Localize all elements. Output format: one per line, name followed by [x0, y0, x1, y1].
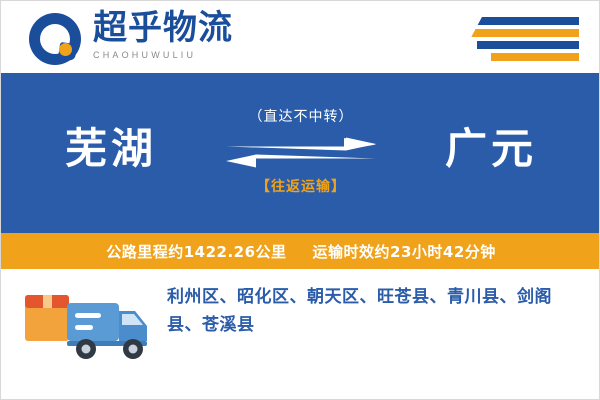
logistics-route-card: 超乎物流 CHAOHUWULIU 芜湖 （直达不中转） [0, 0, 600, 400]
route-info-bar: 公路里程约1422.26公里 运输时效约23小时42分钟 [1, 233, 600, 269]
duration-text: 运输时效约23小时42分钟 [313, 241, 496, 262]
delivery-truck-icon [23, 281, 153, 373]
brand-text-block: 超乎物流 CHAOHUWULIU [93, 9, 323, 60]
logo-dot [59, 43, 72, 56]
route-panel: 芜湖 （直达不中转） 【往返运输】 广元 [1, 73, 600, 233]
circle-q-logo-icon [29, 13, 81, 65]
roundtrip-label: 【往返运输】 [201, 177, 401, 197]
stripe-3 [477, 41, 579, 49]
route-middle: （直达不中转） 【往返运输】 [201, 107, 401, 207]
stripe-2 [463, 29, 579, 37]
double-arrow-icon [226, 137, 376, 171]
distance-text: 公路里程约1422.26公里 [106, 241, 286, 262]
stripe-4 [491, 53, 579, 61]
brand-name-cn: 超乎物流 [93, 9, 323, 47]
origin-city: 芜湖 [11, 121, 211, 177]
destination-city: 广元 [391, 121, 591, 177]
brand-name-en: CHAOHUWULIU [93, 50, 323, 60]
coverage-footer: 利州区、昭化区、朝天区、旺苍县、青川县、剑阁县、苍溪县 [1, 269, 600, 399]
speed-stripes-icon [449, 15, 579, 61]
stripe-mask [425, 15, 483, 61]
brand-header: 超乎物流 CHAOHUWULIU [1, 1, 600, 73]
arrow-left [226, 154, 376, 168]
arrow-right [226, 137, 376, 151]
direct-label: （直达不中转） [201, 107, 401, 127]
coverage-regions-text: 利州区、昭化区、朝天区、旺苍县、青川县、剑阁县、苍溪县 [167, 283, 579, 339]
